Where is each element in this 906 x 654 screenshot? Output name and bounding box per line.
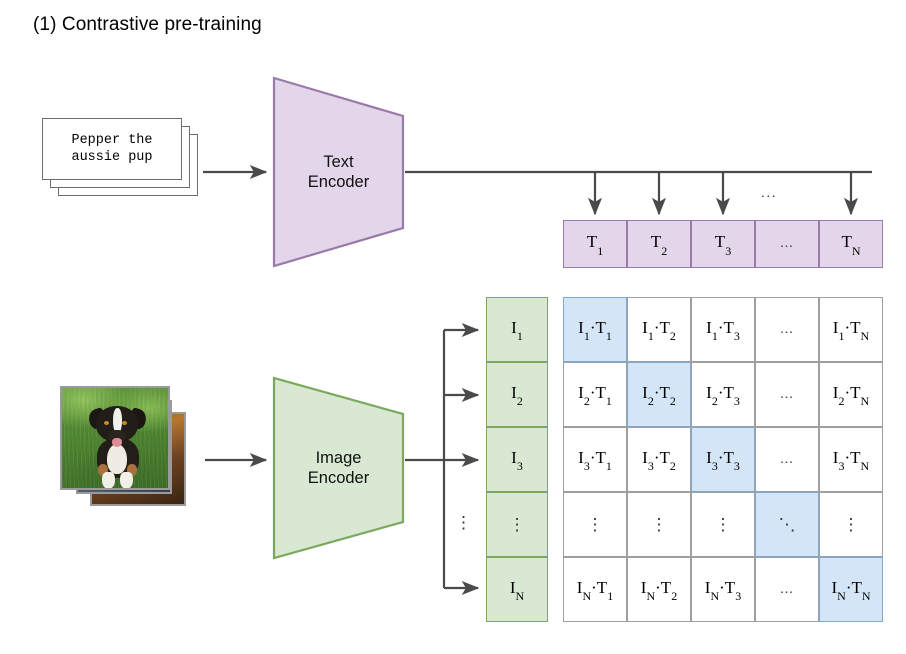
image-encoder-label: Image Encoder — [308, 448, 369, 488]
matrix-cell-iN-t2[interactable]: IN·T2 — [627, 557, 691, 622]
image-embedding-cell-2[interactable]: I2 — [486, 362, 548, 427]
matrix-cell-i1-t3[interactable]: I1·T3 — [691, 297, 755, 362]
puppy-illustration — [88, 406, 146, 490]
matrix-cell-row3-ellipsis: ... — [755, 427, 819, 492]
matrix-cell-i3-t3[interactable]: I3·T3 — [691, 427, 755, 492]
matrix-cell-i1-tN[interactable]: I1·TN — [819, 297, 883, 362]
image-embedding-cell-n[interactable]: IN — [486, 557, 548, 622]
image-embedding-cell-ellipsis: ⋮ — [486, 492, 548, 557]
text-encoder-block[interactable]: Text Encoder — [272, 76, 405, 268]
text-embedding-cell-3[interactable]: T3 — [691, 220, 755, 268]
matrix-cell-i3-t2[interactable]: I3·T2 — [627, 427, 691, 492]
text-sample-text: Pepper the aussie pup — [71, 132, 152, 166]
text-sample-card: Pepper the aussie pup — [42, 118, 182, 180]
image-embedding-cell-1[interactable]: I1 — [486, 297, 548, 362]
matrix-cell-iN-t3[interactable]: IN·T3 — [691, 557, 755, 622]
page-title: (1) Contrastive pre-training — [33, 14, 262, 36]
matrix-cell-r4-c5-ellipsis: ⋮ — [819, 492, 883, 557]
matrix-cell-i3-t1[interactable]: I3·T1 — [563, 427, 627, 492]
matrix-cell-i2-t3[interactable]: I2·T3 — [691, 362, 755, 427]
text-embedding-cell-ellipsis: ... — [755, 220, 819, 268]
matrix-cell-iN-tN[interactable]: IN·TN — [819, 557, 883, 622]
matrix-cell-r4-c4-ellipsis: ⋱ — [755, 492, 819, 557]
matrix-cell-i3-tN[interactable]: I3·TN — [819, 427, 883, 492]
matrix-cell-row1-ellipsis: ... — [755, 297, 819, 362]
text-wire-ellipsis: ... — [761, 184, 777, 200]
matrix-cell-r4-c2-ellipsis: ⋮ — [627, 492, 691, 557]
image-embedding-cell-3[interactable]: I3 — [486, 427, 548, 492]
image-sample-stack — [60, 386, 205, 506]
matrix-cell-iN-t1[interactable]: IN·T1 — [563, 557, 627, 622]
matrix-cell-row2-ellipsis: ... — [755, 362, 819, 427]
text-sample-stack: Pepper the aussie pup — [42, 118, 200, 198]
image-sample-photo — [60, 386, 170, 490]
text-embedding-cell-1[interactable]: T1 — [563, 220, 627, 268]
text-embedding-cell-n[interactable]: TN — [819, 220, 883, 268]
matrix-cell-r4-c1-ellipsis: ⋮ — [563, 492, 627, 557]
text-embedding-cell-2[interactable]: T2 — [627, 220, 691, 268]
image-encoder-block[interactable]: Image Encoder — [272, 376, 405, 560]
text-encoder-label: Text Encoder — [308, 152, 369, 192]
matrix-cell-i2-t1[interactable]: I2·T1 — [563, 362, 627, 427]
matrix-cell-r4-c3-ellipsis: ⋮ — [691, 492, 755, 557]
diagram-canvas: (1) Contrastive pre-training Pepper the … — [0, 0, 906, 654]
matrix-cell-i1-t2[interactable]: I1·T2 — [627, 297, 691, 362]
image-wire-ellipsis: ⋮ — [455, 513, 474, 533]
matrix-cell-i1-t1[interactable]: I1·T1 — [563, 297, 627, 362]
matrix-cell-i2-tN[interactable]: I2·TN — [819, 362, 883, 427]
matrix-cell-row5-ellipsis: ... — [755, 557, 819, 622]
matrix-cell-i2-t2[interactable]: I2·T2 — [627, 362, 691, 427]
